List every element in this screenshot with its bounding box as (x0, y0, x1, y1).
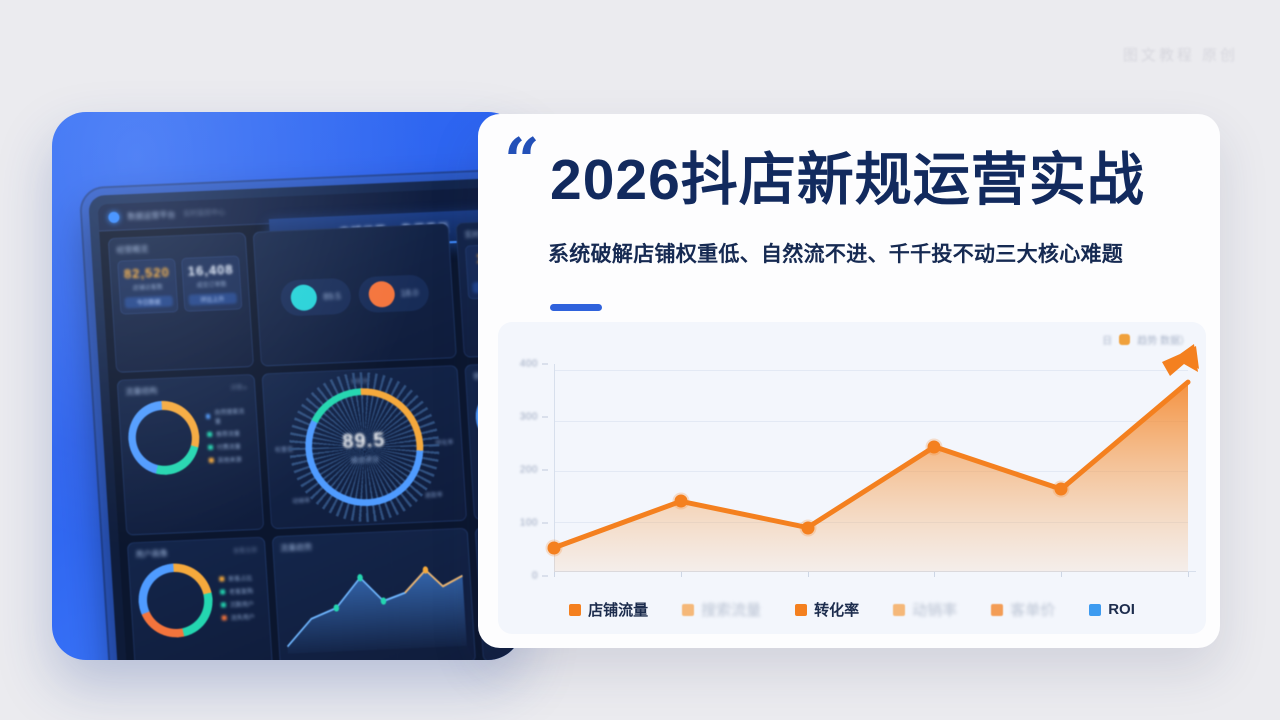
dashboard-showcase-card: 数据运营平台 实时监控中心 店铺经营 · 数据看板 经营概览 82,5 (52, 112, 522, 660)
chart-plot-area (554, 370, 1188, 572)
gauge-chart (302, 386, 427, 509)
legend-item-roi[interactable]: ROI (1089, 601, 1135, 618)
data-point[interactable] (548, 541, 561, 554)
panel-traffic-trend: 流量趋势 (271, 527, 476, 660)
legend-item-unit-price[interactable]: 客单价 (991, 599, 1055, 620)
dashboard-menu[interactable]: 实时监控中心 (183, 207, 226, 219)
gauge-outer-ring: 89.5 综合评分 (285, 369, 444, 525)
gauge-label: 综合评分 (343, 454, 387, 466)
donut-chart-user: 10.4 (136, 562, 215, 639)
dashboard-brand: 数据运营平台 (127, 209, 176, 222)
donut-legend: 新客占比 老客复购 沉默用户 流失用户 (219, 573, 255, 622)
y-tick-label: 200 (520, 465, 538, 476)
donut-center-value: 10.4 (136, 562, 215, 639)
gauge-tick: 权重值 (275, 444, 294, 454)
gauge-tick: 动销率 (292, 495, 311, 505)
y-tick-label: 100 (520, 518, 538, 529)
gauge-tick: 转化率 (435, 437, 454, 447)
panel-overview-title: 经营概览 (116, 243, 149, 255)
kpi-badge[interactable]: 环比上升 (188, 293, 236, 306)
gauge-value: 89.5 (342, 429, 386, 454)
legend-label: 转化率 (814, 599, 859, 620)
donut-center-value: 26.3 (126, 400, 201, 477)
panel-traffic-title: 流量结构 (125, 385, 158, 397)
legend-swatch (893, 604, 905, 616)
gauge-tick: 退款率 (424, 490, 443, 500)
chart-header-swatch (1119, 334, 1130, 345)
metric-chip-label: 89.5 (323, 291, 341, 302)
panel-user-profile: 用户画像 查看全部 10.4 新客占比 老客复购 沉默用户 流失用户 (127, 536, 273, 660)
donut-legend: 自然搜索流量 推荐流量 付费流量 其他来源 (205, 406, 252, 465)
kpi-card: 16,408 成交订单数 环比上升 (181, 255, 242, 311)
legend-label: ROI (1108, 601, 1135, 618)
legend-item-conversion-rate[interactable]: 转化率 (795, 599, 859, 620)
legend-label: 客单价 (1010, 599, 1055, 620)
trend-arrow-head-icon (1154, 342, 1202, 394)
watermark-text: 图文教程 原创 (1123, 44, 1238, 65)
metric-chip-label: 18.0 (400, 287, 418, 298)
device-frame: 数据运营平台 实时监控中心 店铺经营 · 数据看板 经营概览 82,5 (88, 173, 522, 660)
legend-item-sell-through[interactable]: 动销率 (893, 599, 957, 620)
data-point[interactable] (1055, 483, 1068, 496)
y-tick-label: 300 (520, 412, 538, 423)
donut-chart-traffic: 26.3 (126, 400, 201, 477)
panel-user-action[interactable]: 查看全部 (233, 545, 258, 555)
legend-label: 动销率 (912, 599, 957, 620)
gauge-tick: 体验分 (351, 376, 370, 386)
area-series-store-traffic (554, 370, 1188, 572)
panel-metric-chips: 89.5 18.0 (252, 223, 457, 367)
kpi-value: 16,408 (186, 262, 235, 279)
mini-area-chart (280, 549, 469, 654)
legend-swatch (991, 604, 1003, 616)
quote-mark-icon: “ (504, 130, 536, 192)
panel-core-gauge: 权重值 转化率 动销率 退款率 体验分 89.5 综合评分 (261, 365, 467, 529)
legend-swatch (569, 604, 581, 616)
accent-divider (550, 304, 602, 311)
panel-overview: 经营概览 82,520 店铺访客数 今日数据 16,408 成交订单数 (108, 232, 254, 373)
page-title: 2026抖店新规运营实战 (550, 152, 1204, 209)
legend-swatch (682, 604, 694, 616)
legend-label: 搜索流量 (701, 599, 761, 620)
kpi-value: 82,520 (122, 264, 171, 281)
dashboard-banner-text: 店铺经营 · 数据看板 (339, 219, 451, 239)
panel-traffic-structure: 流量结构 详情 ▸ 26.3 自然搜索流量 推荐流量 付费流量 其他来 (117, 374, 264, 535)
y-tick-label: 400 (520, 359, 538, 370)
panel-trend-title: 流量趋势 (280, 541, 313, 553)
data-point[interactable] (674, 495, 687, 508)
kpi-caption: 店铺访客数 (124, 281, 172, 292)
kpi-badge[interactable]: 今日数据 (124, 295, 172, 308)
data-point[interactable] (801, 521, 814, 534)
circle-logo-icon (108, 211, 120, 222)
kpi-card: 82,520 店铺访客数 今日数据 (117, 258, 178, 314)
dashboard-topbar: 数据运营平台 实时监控中心 (98, 183, 522, 232)
poster-canvas: 图文教程 原创 数据运营平台 实时监控中心 店铺经营 · 数据看板 经营概览 (0, 0, 1280, 720)
legend-label: 店铺流量 (588, 599, 648, 620)
legend-swatch (795, 604, 807, 616)
panel-traffic-action[interactable]: 详情 ▸ (230, 382, 247, 392)
page-subtitle: 系统破解店铺权重低、自然流不进、千千投不动三大核心难题 (548, 238, 1210, 268)
legend-item-store-traffic[interactable]: 店铺流量 (569, 599, 648, 620)
dashboard-grid: 经营概览 82,520 店铺访客数 今日数据 16,408 成交订单数 (108, 217, 522, 660)
calendar-icon[interactable]: 日 (1102, 332, 1112, 347)
y-tick-label: 0 (532, 571, 538, 582)
content-card: “ 2026抖店新规运营实战 系统破解店铺权重低、自然流不进、千千投不动三大核心… (478, 114, 1220, 648)
legend-swatch (1089, 604, 1101, 616)
data-point[interactable] (928, 440, 941, 453)
chart-legend: 店铺流量 搜索流量 转化率 动销率 客单价 (498, 599, 1206, 620)
dashboard-screen: 数据运营平台 实时监控中心 店铺经营 · 数据看板 经营概览 82,5 (98, 183, 522, 660)
legend-item-search-traffic[interactable]: 搜索流量 (682, 599, 761, 620)
kpi-caption: 成交订单数 (187, 279, 235, 290)
gauge-center: 89.5 综合评分 (342, 429, 387, 466)
chart-container: 日 趋势 数据） 0 100 200 300 400 (498, 322, 1206, 634)
panel-user-title: 用户画像 (135, 548, 168, 560)
chart-y-axis: 0 100 200 300 400 (504, 364, 550, 576)
